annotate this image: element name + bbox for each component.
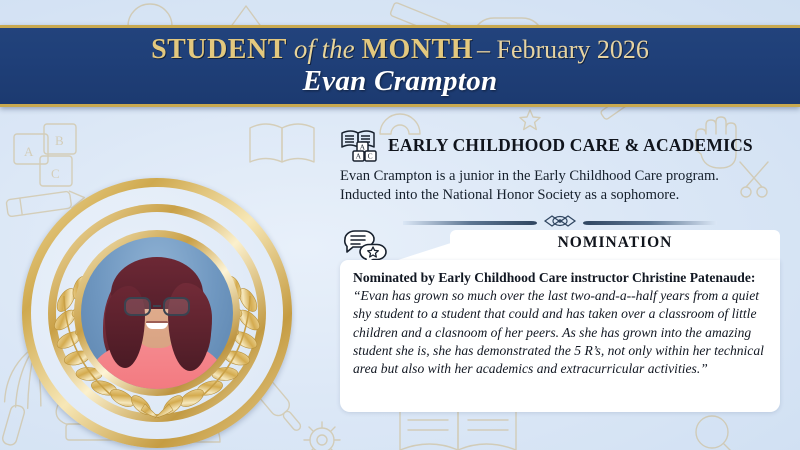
banner-title-line: STUDENT of the MONTH – February 2026 [151, 36, 649, 64]
nomination-label: NOMINATION [450, 234, 780, 252]
svg-text:B: B [55, 133, 64, 148]
poster-canvas: A B C [0, 0, 800, 450]
svg-text:A: A [356, 152, 362, 161]
banner-title-month: MONTH [362, 34, 473, 65]
ornamental-divider [395, 214, 725, 228]
svg-text:A: A [360, 143, 366, 152]
program-header: A A C EARLY CHILDHOOD CARE & ACADEMICS [340, 128, 780, 162]
divider-graphic [395, 214, 725, 228]
student-photo-medallion [22, 178, 292, 448]
program-title: EARLY CHILDHOOD CARE & ACADEMICS [388, 135, 753, 156]
nomination-box: Nominated by Early Childhood Care instru… [340, 260, 780, 412]
program-description-line-1: Evan Crampton is a junior in the Early C… [340, 167, 780, 186]
banner-title-date: – February 2026 [477, 35, 649, 64]
nomination-quote: “Evan has grown so much over the last tw… [353, 288, 764, 376]
title-banner: STUDENT of the MONTH – February 2026 Eva… [0, 25, 800, 107]
nomination-text: Nominated by Early Childhood Care instru… [353, 269, 767, 378]
content-column: A A C EARLY CHILDHOOD CARE & ACADEMICS E… [340, 128, 780, 412]
program-description: Evan Crampton is a junior in the Early C… [340, 167, 780, 205]
banner-title-ofthe: of the [291, 34, 358, 64]
banner-title-student: STUDENT [151, 34, 287, 65]
glasses-lens-right [163, 297, 190, 316]
glasses-lens-left [124, 297, 151, 316]
student-name: Evan Crampton [303, 66, 498, 96]
student-portrait [81, 237, 233, 389]
svg-text:A: A [24, 144, 34, 159]
glasses-bridge [153, 305, 161, 307]
nomination-attribution: Nominated by Early Childhood Care instru… [353, 270, 755, 285]
program-description-line-2: Inducted into the National Honor Society… [340, 186, 780, 205]
svg-text:C: C [368, 152, 373, 161]
nomination-header: NOMINATION [340, 230, 780, 260]
speech-bubbles-icon [342, 228, 388, 264]
nomination-callout-tail [398, 242, 454, 260]
book-abc-blocks-icon: A A C [340, 128, 380, 162]
portrait-glasses [124, 296, 190, 316]
